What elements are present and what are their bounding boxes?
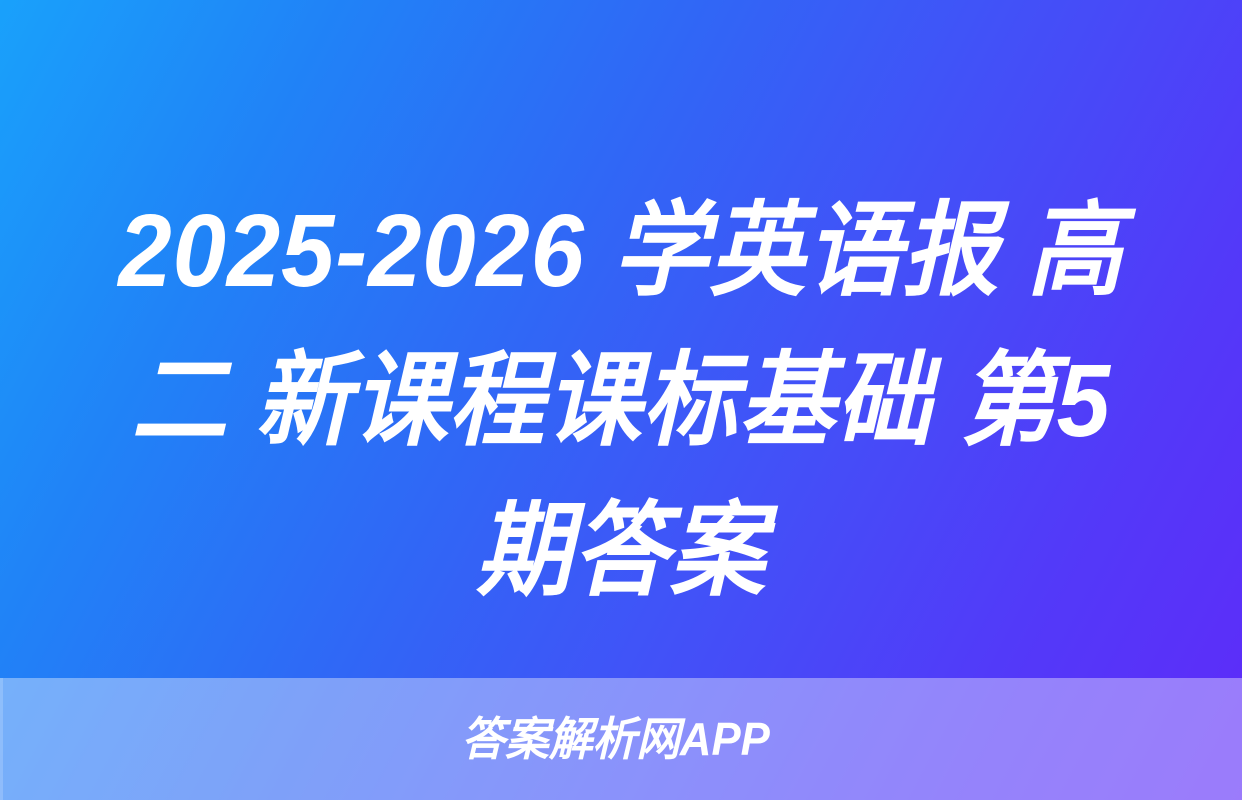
title-line-3: 期答案 (100, 476, 1142, 626)
cover-card: 2025-2026 学英语报 高 二 新课程课标基础 第5 期答案 答案解析网A… (0, 0, 1242, 800)
title-block: 2025-2026 学英语报 高 二 新课程课标基础 第5 期答案 (0, 176, 1242, 646)
app-watermark: 答案解析网APP (461, 716, 769, 762)
title-line-1: 2025-2026 学英语报 高 (100, 176, 1142, 326)
title-line-2: 二 新课程课标基础 第5 (100, 326, 1142, 476)
footer-band: 答案解析网APP (0, 678, 1242, 800)
band-left-edge (0, 678, 3, 800)
